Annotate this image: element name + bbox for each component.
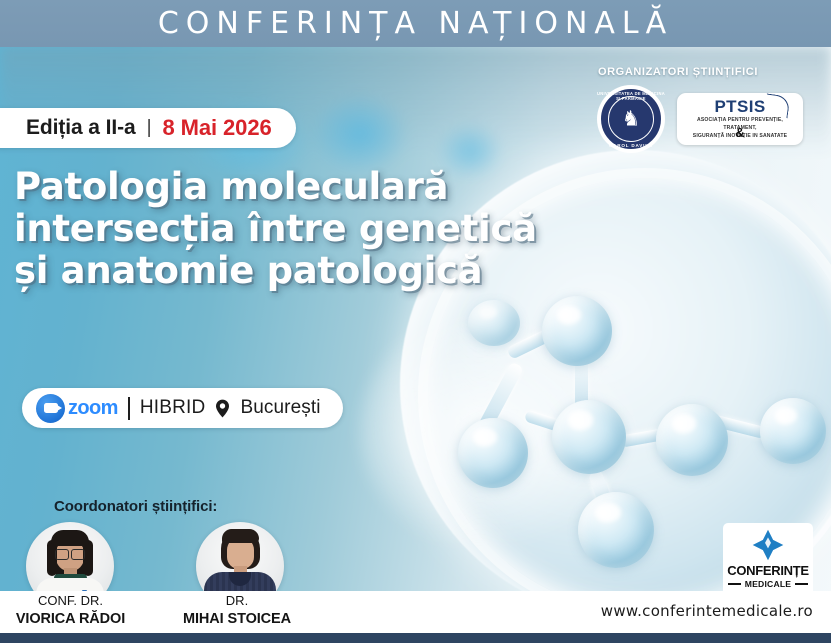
coordinator-name-block: CONF. DR. VIORICA RĂDOI <box>8 593 133 628</box>
rule-left <box>728 583 741 585</box>
molecule-sphere <box>552 400 626 474</box>
glasses-icon <box>55 549 85 558</box>
headline-line-2: intersecția între genetică <box>14 208 559 250</box>
hair-fringe <box>222 529 259 543</box>
seal-top-text: UNIVERSITATEA DE MEDICINA SI FARMACIE <box>597 91 665 101</box>
organizers-section: ORGANIZATORI ȘTIINȚIFICI UNIVERSITATEA D… <box>553 66 803 153</box>
event-format-badge: zoom HIBRID București <box>22 388 343 428</box>
format-divider <box>128 397 130 420</box>
ptsis-logo: PTSIS ASOCIAȚIA PENTRU PREVENȚIE, TRATAM… <box>677 93 803 145</box>
header-bar: CONFERINȚA NAȚIONALĂ <box>0 0 831 47</box>
conference-headline: Patologia moleculară intersecția între g… <box>14 166 559 293</box>
location-pin-icon <box>215 399 230 418</box>
rule-right <box>795 583 808 585</box>
coordinator-title: CONF. DR. <box>8 593 133 610</box>
footer-strip: CONF. DR. VIORICA RĂDOI DR. MIHAI STOICE… <box>0 591 831 633</box>
hair-fringe <box>51 530 89 546</box>
event-city: București <box>240 397 320 419</box>
website-url[interactable]: www.conferintemedicale.ro <box>601 602 813 620</box>
edition-badge: Ediția a II-a | 8 Mai 2026 <box>0 108 296 148</box>
molecule-sphere <box>656 404 728 476</box>
conference-poster: CONFERINȚA NAȚIONALĂ ORGANIZATORI ȘTIINȚ… <box>0 0 831 643</box>
brand-name: CONFERINȚE <box>727 563 809 578</box>
seal-bottom-text: CAROL DAVILA <box>597 143 665 148</box>
centaur-icon: ♞ <box>622 109 641 130</box>
ptsis-ampersand: & <box>735 125 744 140</box>
coordinator-name: MIHAI STOICEA <box>172 610 302 629</box>
page-title: CONFERINȚA NAȚIONALĂ <box>158 6 673 41</box>
molecule-sphere <box>458 418 528 488</box>
university-seal-icon: UNIVERSITATEA DE MEDICINA SI FARMACIE ♞ … <box>597 85 665 153</box>
brand-subtitle: MEDICALE <box>745 579 791 589</box>
headline-line-3: și anatomie patologică <box>14 250 559 292</box>
molecule-sphere <box>578 492 654 568</box>
brand-subtitle-row: MEDICALE <box>728 579 808 589</box>
molecule-sphere <box>468 300 520 346</box>
bottom-accent-bar <box>0 633 831 643</box>
video-camera-icon <box>36 394 65 423</box>
molecule-sphere <box>542 296 612 366</box>
edition-label: Ediția a II-a <box>26 116 136 140</box>
headline-line-1: Patologia moleculară <box>14 166 559 208</box>
four-point-star-icon <box>751 528 785 562</box>
organizers-label: ORGANIZATORI ȘTIINȚIFICI <box>553 66 803 78</box>
zoom-logo: zoom <box>36 394 118 423</box>
coordinator-name: VIORICA RĂDOI <box>8 610 133 629</box>
event-date: 8 Mai 2026 <box>163 115 272 141</box>
zoom-wordmark: zoom <box>68 397 118 420</box>
camera-glyph <box>44 403 58 413</box>
organizer-logos: UNIVERSITATEA DE MEDICINA SI FARMACIE ♞ … <box>553 85 803 153</box>
edition-separator: | <box>147 117 152 139</box>
conferinte-medicale-logo: CONFERINȚE MEDICALE <box>723 523 813 591</box>
molecule-sphere <box>760 398 826 464</box>
coordinator-name-block: DR. MIHAI STOICEA <box>172 593 302 628</box>
format-mode: HIBRID <box>140 397 206 419</box>
coordinators-label: Coordonatori științifici: <box>54 498 217 515</box>
coordinator-title: DR. <box>172 593 302 610</box>
